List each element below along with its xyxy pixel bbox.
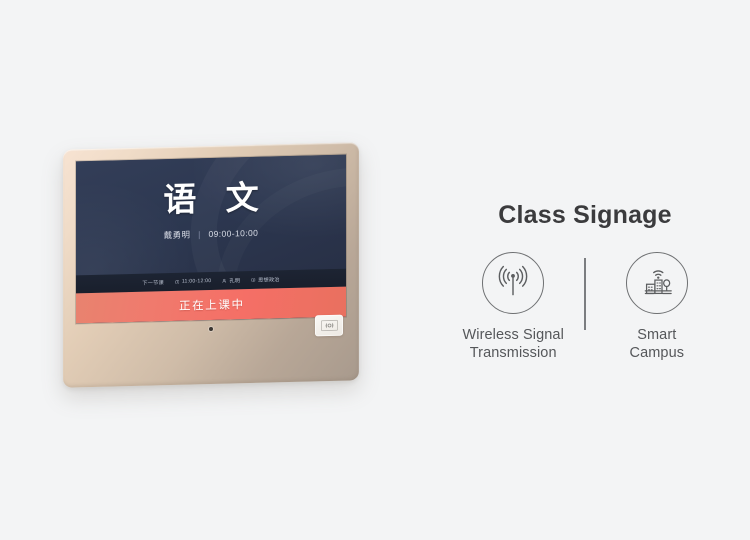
feature-label-line-2: Campus	[630, 345, 685, 363]
next-class-teacher: 孔明	[229, 277, 240, 284]
next-class-label-cell: 下一节课	[142, 279, 164, 287]
subject-title: 语 文	[76, 179, 346, 219]
device-screen: 语 文 戴勇明 | 09:00-10:00 下一节课 11:00-12:00	[76, 155, 346, 324]
teacher-name: 戴勇明	[164, 230, 191, 241]
feature-label-line-1: Smart	[630, 327, 685, 345]
clock-icon	[175, 280, 180, 285]
next-class-label: 下一节课	[142, 279, 164, 287]
class-time-range: 09:00-10:00	[209, 228, 259, 239]
screen-main-panel: 语 文 戴勇明 | 09:00-10:00	[76, 155, 346, 276]
next-class-subject: 思想政治	[258, 276, 280, 284]
feature-list: Wireless Signal Transmission	[420, 252, 750, 363]
status-banner: 正在上课中	[76, 287, 346, 324]
feature-label-line-2: Transmission	[462, 345, 563, 363]
next-class-time: 11:00-12:00	[182, 278, 212, 285]
next-class-subject-cell: 思想政治	[251, 276, 280, 284]
info-panel: Class Signage Wireless Signal Transmissi…	[420, 0, 750, 540]
class-signage-device: 语 文 戴勇明 | 09:00-10:00 下一节课 11:00-12:00	[63, 142, 359, 387]
feature-label-line-1: Wireless Signal	[462, 327, 563, 345]
person-icon	[222, 278, 227, 283]
smart-campus-icon	[626, 252, 688, 314]
feature-wireless-signal-transmission: Wireless Signal Transmission	[442, 252, 584, 363]
book-icon	[251, 278, 256, 283]
next-class-teacher-cell: 孔明	[222, 277, 240, 284]
feature-smart-campus: Smart Campus	[586, 252, 728, 363]
device-area: 语 文 戴勇明 | 09:00-10:00 下一节课 11:00-12:00	[0, 0, 420, 540]
page-title: Class Signage	[420, 203, 750, 228]
feature-label: Smart Campus	[630, 327, 685, 363]
feature-label: Wireless Signal Transmission	[462, 327, 563, 363]
next-class-time-cell: 11:00-12:00	[175, 278, 212, 285]
sensor-dot-icon	[209, 327, 213, 331]
card-reader-icon[interactable]	[315, 315, 343, 337]
meta-separator: |	[198, 229, 201, 239]
wireless-antenna-icon	[482, 252, 544, 314]
